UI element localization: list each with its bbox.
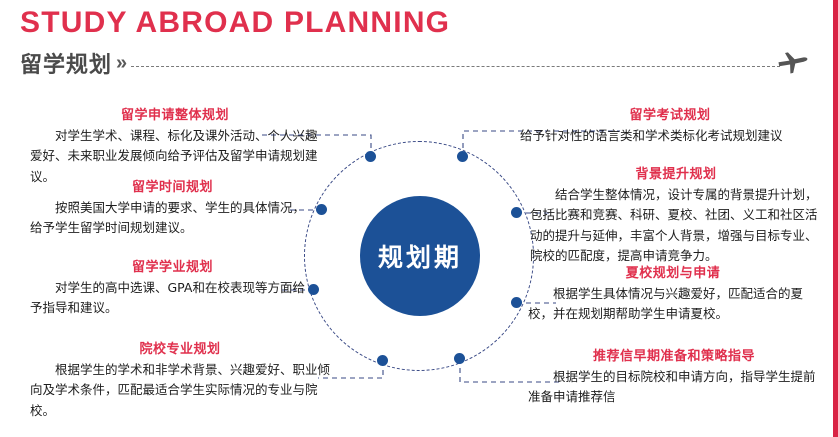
page-title-chinese: 留学规划 [20,47,112,79]
header: STUDY ABROAD PLANNING 留学规划 » [20,6,810,86]
chevron-right-icon: » [116,52,123,75]
node-background [511,207,522,218]
node-school [377,355,388,366]
node-summer [511,297,522,308]
block-title: 留学时间规划 [30,176,315,195]
block-overall-planning: 留学申请整体规划 对学生学术、课程、标化及课外活动、个人兴趣爱好、未来职业发展倾… [30,104,320,187]
block-body: 按照美国大学申请的要求、学生的具体情况，给予学生留学时间规划建议。 [30,198,315,239]
airplane-icon [776,48,810,74]
center-core-label: 规划期 [378,238,462,274]
node-exam [457,151,468,162]
block-title: 推荐信早期准备和策略指导 [528,345,820,364]
header-dashed-line [131,66,780,67]
subtitle-row: 留学规划 » [20,44,810,82]
block-title: 夏校规划与申请 [528,262,818,281]
block-body: 根据学生的学术和非学术背景、兴趣爱好、职业倾向及学术条件，匹配最适合学生实际情况… [30,360,330,421]
block-school-major-planning: 院校专业规划 根据学生的学术和非学术背景、兴趣爱好、职业倾向及学术条件，匹配最适… [30,338,330,421]
block-academic-planning: 留学学业规划 对学生的高中选课、GPA和在校表现等方面给予指导和建议。 [30,256,315,319]
block-body: 结合学生整体情况，设计专属的背景提升计划，包括比赛和竞赛、科研、夏校、社团、义工… [530,185,822,266]
right-accent-bar [833,0,838,437]
block-title: 留学学业规划 [30,256,315,275]
poster-canvas: STUDY ABROAD PLANNING 留学规划 » [0,0,838,437]
node-recommend [454,353,465,364]
center-core-circle: 规划期 [360,196,480,316]
block-summer-school: 夏校规划与申请 根据学生具体情况与兴趣爱好，匹配适合的夏校，并在规划期帮助学生申… [528,262,818,325]
block-title: 院校专业规划 [30,338,330,357]
block-exam-planning: 留学考试规划 给予针对性的语言类和学术类标化考试规划建议 [520,104,820,146]
block-recommendation-letter: 推荐信早期准备和策略指导 根据学生的目标院校和申请方向，指导学生提前准备申请推荐… [528,345,820,408]
block-body: 根据学生具体情况与兴趣爱好，匹配适合的夏校，并在规划期帮助学生申请夏校。 [528,284,818,325]
block-body: 根据学生的目标院校和申请方向，指导学生提前准备申请推荐信 [528,367,820,408]
block-background-enhancement: 背景提升规划 结合学生整体情况，设计专属的背景提升计划，包括比赛和竞赛、科研、夏… [530,163,822,266]
block-title: 背景提升规划 [530,163,822,182]
page-title-english: STUDY ABROAD PLANNING [20,6,810,40]
block-timeline-planning: 留学时间规划 按照美国大学申请的要求、学生的具体情况，给予学生留学时间规划建议。 [30,176,315,239]
block-body: 对学生的高中选课、GPA和在校表现等方面给予指导和建议。 [30,278,315,319]
node-overall [365,151,376,162]
node-timeline [316,204,327,215]
block-title: 留学考试规划 [520,104,820,123]
block-title: 留学申请整体规划 [30,104,320,123]
block-body: 给予针对性的语言类和学术类标化考试规划建议 [520,126,820,146]
